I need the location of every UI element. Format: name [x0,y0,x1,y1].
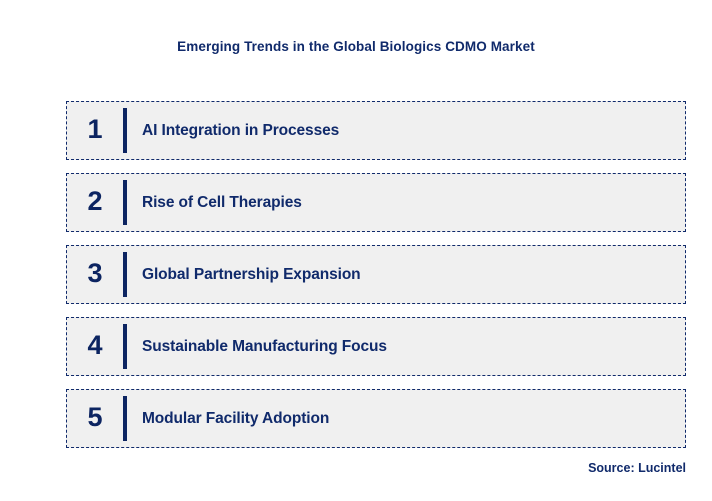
trend-row[interactable]: 4 Sustainable Manufacturing Focus [66,317,686,376]
trend-number: 5 [67,404,123,433]
trend-row[interactable]: 5 Modular Facility Adoption [66,389,686,448]
trend-label: Sustainable Manufacturing Focus [127,338,685,356]
trend-label: Global Partnership Expansion [127,266,685,284]
trend-number: 3 [67,260,123,289]
trend-number: 4 [67,332,123,361]
trend-number: 1 [67,116,123,145]
trend-label: Rise of Cell Therapies [127,194,685,212]
trend-label: Modular Facility Adoption [127,410,685,428]
trend-row[interactable]: 1 AI Integration in Processes [66,101,686,160]
trend-list: 1 AI Integration in Processes 2 Rise of … [66,101,686,448]
trend-number: 2 [67,188,123,217]
trend-row[interactable]: 3 Global Partnership Expansion [66,245,686,304]
page-title: Emerging Trends in the Global Biologics … [0,39,712,54]
source-attribution: Source: Lucintel [588,461,686,475]
trend-row[interactable]: 2 Rise of Cell Therapies [66,173,686,232]
trend-label: AI Integration in Processes [127,122,685,140]
infographic-canvas: Emerging Trends in the Global Biologics … [0,0,712,501]
